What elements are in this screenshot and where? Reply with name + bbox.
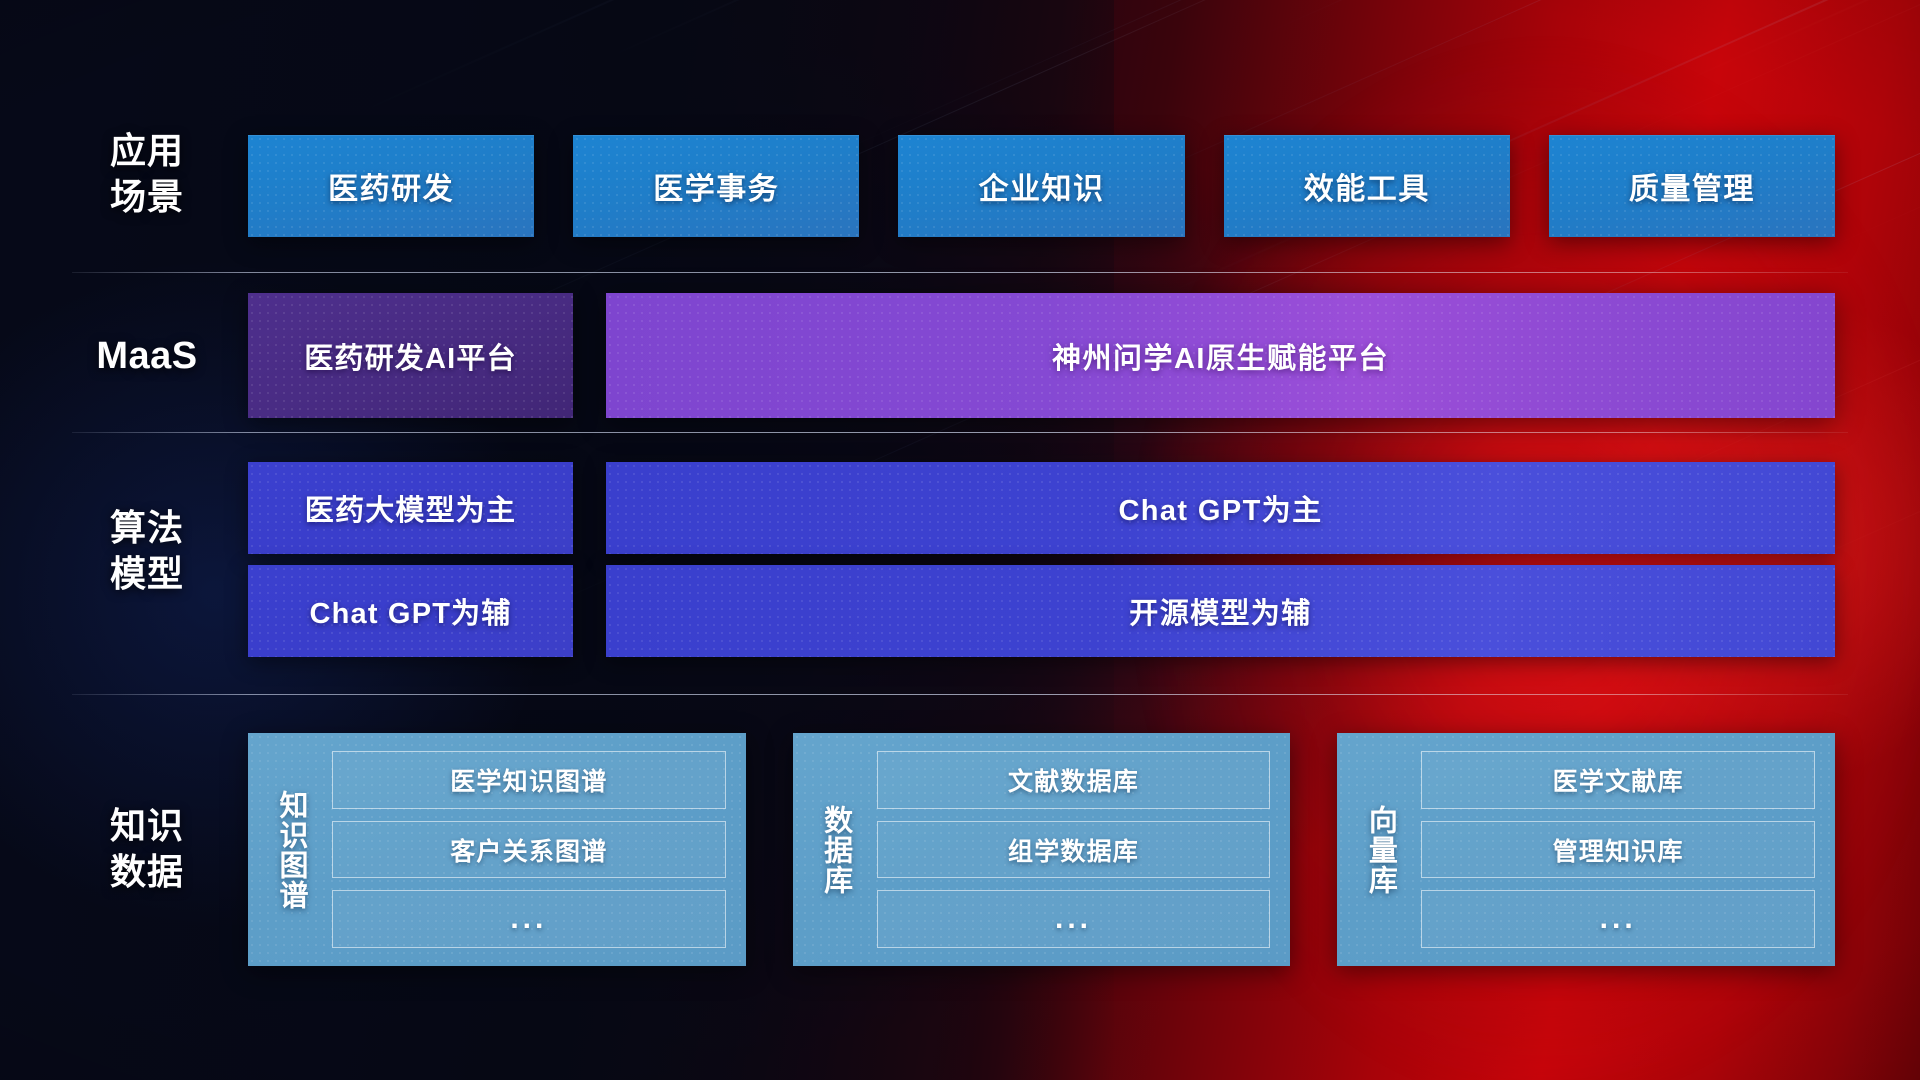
maas-box-label: 神州问学AI原生赋能平台: [1052, 335, 1389, 377]
algo-box-opensource-secondary[interactable]: 开源模型为辅: [606, 565, 1835, 657]
layer-label-knowledge-line2: 数据: [72, 849, 222, 895]
app-box-enterprise-knowledge[interactable]: 企业知识: [898, 135, 1184, 237]
app-box-medical-affairs[interactable]: 医学事务: [573, 135, 859, 237]
layer-label-application-line2: 场景: [72, 174, 222, 220]
application-box-row: 医药研发 医学事务 企业知识 效能工具 质量管理: [248, 135, 1835, 237]
divider-application-maas: [72, 272, 1848, 273]
layer-label-application-line1: 应用: [72, 128, 222, 174]
maas-box-label: 医药研发AI平台: [304, 335, 517, 377]
knowledge-group-database: 数据库 文献数据库 组学数据库 ...: [793, 733, 1291, 966]
knowledge-item-literature-db[interactable]: 文献数据库: [877, 751, 1271, 809]
divider-algorithm-knowledge: [72, 694, 1848, 695]
architecture-diagram: 应用 场景 医药研发 医学事务 企业知识 效能工具 质量管理 MaaS: [0, 0, 1920, 1080]
layer-label-maas-text: MaaS: [72, 333, 222, 379]
algorithm-row-primary: 医药大模型为主 Chat GPT为主: [248, 462, 1835, 554]
knowledge-item-medical-kg[interactable]: 医学知识图谱: [332, 751, 726, 809]
knowledge-item-list: 医学文献库 管理知识库 ...: [1421, 751, 1815, 948]
app-box-label: 效能工具: [1304, 164, 1430, 208]
layer-label-algorithm-line2: 模型: [72, 551, 222, 597]
layer-label-algorithm: 算法 模型: [72, 505, 222, 597]
knowledge-item-medical-literature[interactable]: 医学文献库: [1421, 751, 1815, 809]
maas-box-drug-rd-ai-platform[interactable]: 医药研发AI平台: [248, 293, 573, 418]
layer-label-application: 应用 场景: [72, 128, 222, 220]
knowledge-group-row: 知识图谱 医学知识图谱 客户关系图谱 ... 数据库 文献数据库 组学数据库 .…: [248, 733, 1835, 966]
algo-box-label: 医药大模型为主: [305, 487, 516, 529]
divider-maas-algorithm: [72, 432, 1848, 433]
algo-box-chatgpt-secondary[interactable]: Chat GPT为辅: [248, 565, 573, 657]
knowledge-group-vertical-label: 知识图谱: [264, 751, 318, 948]
algorithm-row-secondary: Chat GPT为辅 开源模型为辅: [248, 565, 1835, 657]
knowledge-item-omics-db[interactable]: 组学数据库: [877, 821, 1271, 879]
layer-label-maas: MaaS: [72, 333, 222, 379]
knowledge-group-vector-store: 向量库 医学文献库 管理知识库 ...: [1337, 733, 1835, 966]
knowledge-item-management-kb[interactable]: 管理知识库: [1421, 821, 1815, 879]
app-box-label: 企业知识: [979, 164, 1105, 208]
knowledge-item-more[interactable]: ...: [877, 890, 1271, 948]
algorithm-box-grid: 医药大模型为主 Chat GPT为主 Chat GPT为辅 开源模型为辅: [248, 462, 1835, 657]
knowledge-item-customer-kg[interactable]: 客户关系图谱: [332, 821, 726, 879]
algo-box-label: Chat GPT为辅: [309, 590, 511, 632]
algo-box-label: Chat GPT为主: [1118, 487, 1322, 529]
knowledge-item-more[interactable]: ...: [332, 890, 726, 948]
knowledge-item-list: 文献数据库 组学数据库 ...: [877, 751, 1271, 948]
knowledge-item-more[interactable]: ...: [1421, 890, 1815, 948]
algo-box-chatgpt-primary[interactable]: Chat GPT为主: [606, 462, 1835, 554]
maas-box-row: 医药研发AI平台 神州问学AI原生赋能平台: [248, 293, 1835, 418]
knowledge-group-vertical-label: 向量库: [1353, 751, 1407, 948]
layer-label-knowledge-line1: 知识: [72, 803, 222, 849]
layer-label-algorithm-line1: 算法: [72, 505, 222, 551]
app-box-drug-rd[interactable]: 医药研发: [248, 135, 534, 237]
algo-box-label: 开源模型为辅: [1129, 590, 1311, 632]
knowledge-group-knowledge-graph: 知识图谱 医学知识图谱 客户关系图谱 ...: [248, 733, 746, 966]
knowledge-item-list: 医学知识图谱 客户关系图谱 ...: [332, 751, 726, 948]
knowledge-group-vertical-label: 数据库: [809, 751, 863, 948]
maas-box-shenzhou-wenxue-platform[interactable]: 神州问学AI原生赋能平台: [606, 293, 1835, 418]
app-box-quality-management[interactable]: 质量管理: [1549, 135, 1835, 237]
layer-label-knowledge: 知识 数据: [72, 803, 222, 895]
app-box-label: 医药研发: [328, 164, 454, 208]
algo-box-pharma-llm-primary[interactable]: 医药大模型为主: [248, 462, 573, 554]
app-box-label: 医学事务: [653, 164, 779, 208]
app-box-label: 质量管理: [1629, 164, 1755, 208]
app-box-efficiency-tools[interactable]: 效能工具: [1224, 135, 1510, 237]
